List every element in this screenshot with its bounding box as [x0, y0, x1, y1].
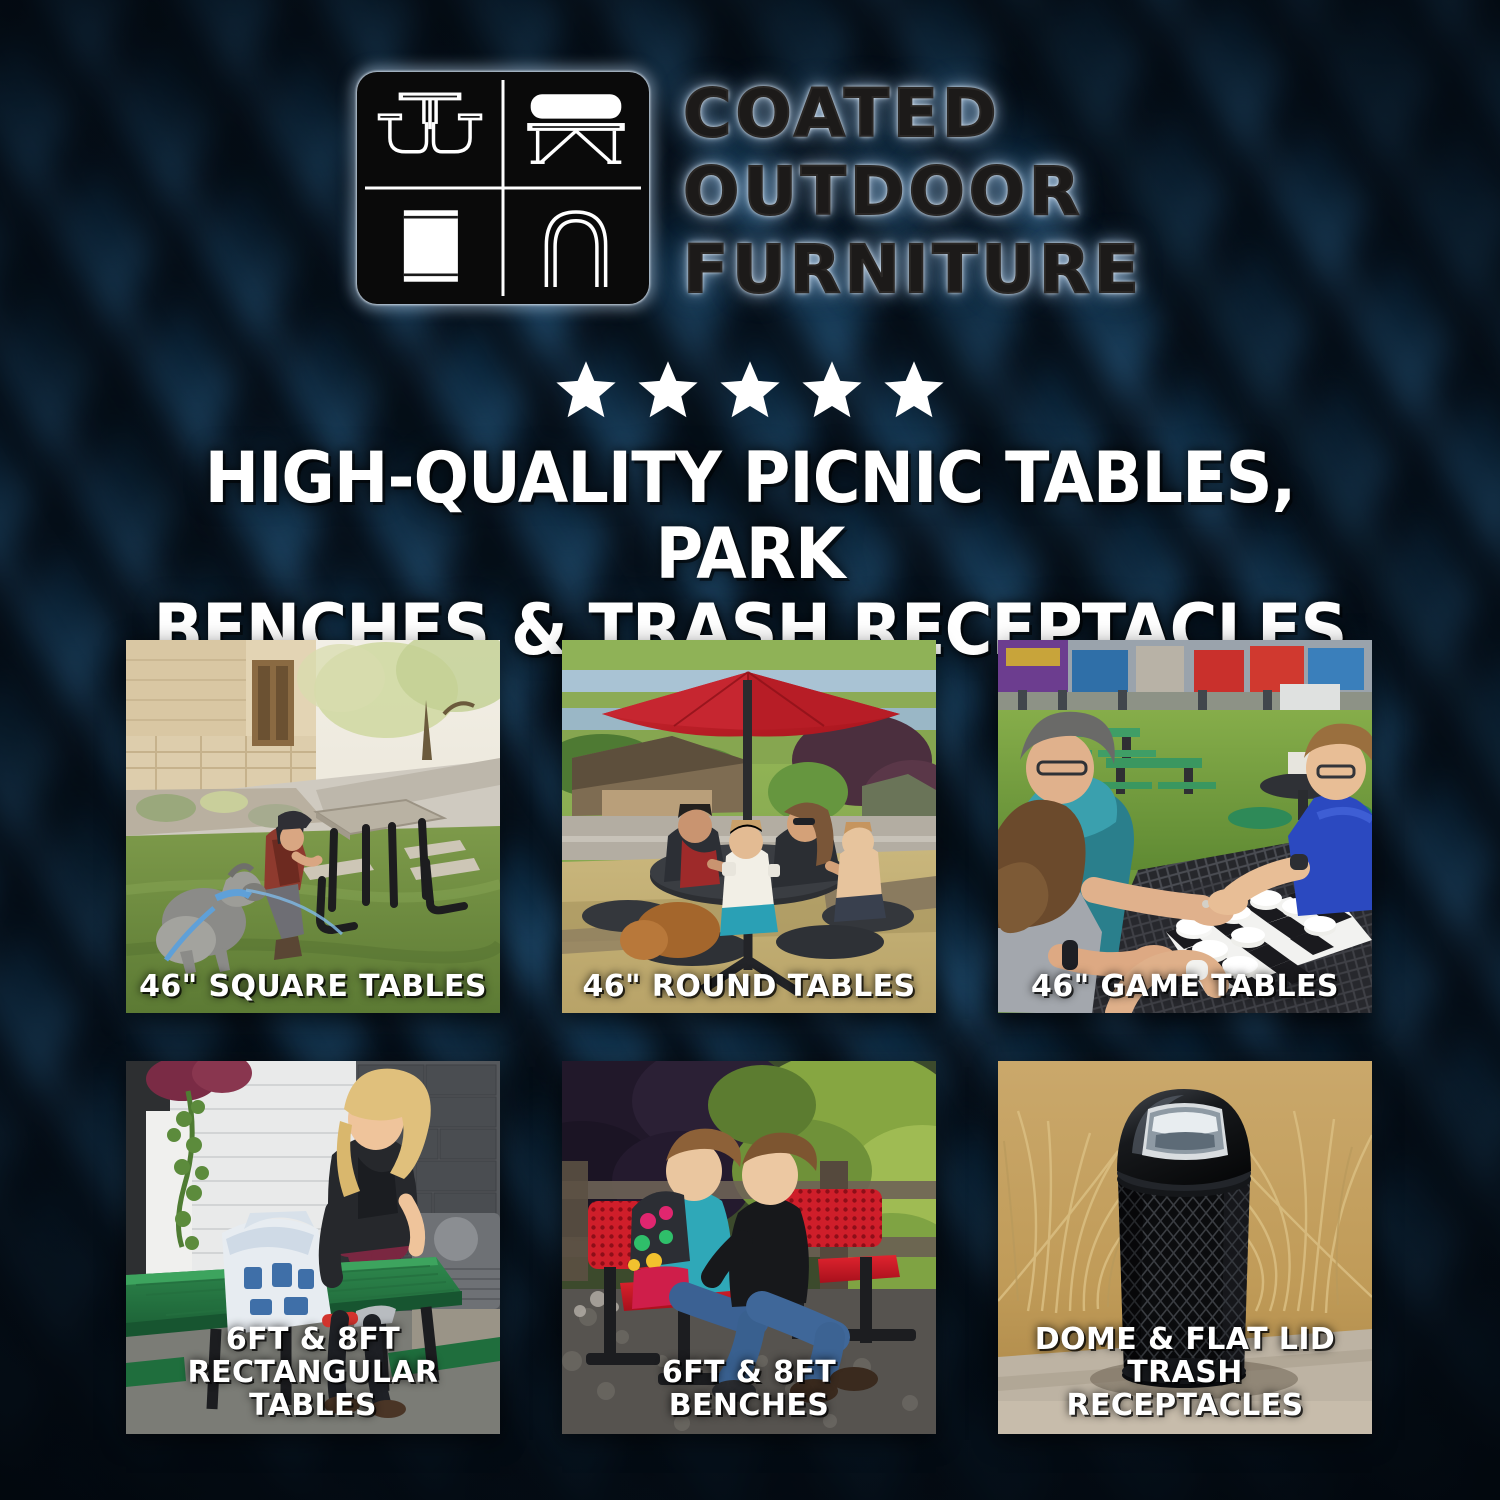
promo-banner: COATED OUTDOOR FURNITURE HIGH-QUALITY PI… [0, 0, 1500, 1500]
tile-caption-line: 6FT & 8FT [134, 1323, 492, 1356]
star-icon [799, 358, 865, 422]
product-tile-benches[interactable]: 6FT & 8FT BENCHES [562, 1061, 936, 1434]
tile-caption-line: 46" ROUND TABLES [582, 969, 915, 1004]
photo-round-tables [562, 640, 936, 1013]
star-icon [553, 358, 619, 422]
picnic-table-icon [357, 72, 503, 188]
tile-caption: 6FT & 8FT BENCHES [562, 1356, 936, 1422]
product-category-grid: 46" SQUARE TABLES [126, 640, 1374, 1434]
trash-receptacle-icon [357, 188, 503, 304]
tile-caption-line: TRASH RECEPTACLES [1006, 1356, 1364, 1422]
tile-caption: 6FT & 8FT RECTANGULAR TABLES [126, 1323, 500, 1422]
product-tile-square-tables[interactable]: 46" SQUARE TABLES [126, 640, 500, 1013]
star-icon [881, 358, 947, 422]
tile-caption: 46" GAME TABLES [998, 970, 1372, 1003]
brand-word-furniture: FURNITURE [683, 232, 1143, 308]
tile-caption: 46" ROUND TABLES [562, 970, 936, 1003]
product-tile-trash-receptacles[interactable]: DOME & FLAT LID TRASH RECEPTACLES [998, 1061, 1372, 1434]
page-title: HIGH-QUALITY PICNIC TABLES, PARK BENCHES… [100, 440, 1400, 668]
tile-caption-line: BENCHES [570, 1389, 928, 1422]
star-rating [0, 358, 1500, 422]
photo-square-tables [126, 640, 500, 1013]
product-tile-round-tables[interactable]: 46" ROUND TABLES [562, 640, 936, 1013]
tile-caption-line: 46" GAME TABLES [1031, 969, 1339, 1004]
headline-line-1: HIGH-QUALITY PICNIC TABLES, PARK [146, 440, 1355, 592]
product-tile-game-tables[interactable]: 46" GAME TABLES [998, 640, 1372, 1013]
star-icon [635, 358, 701, 422]
park-bench-icon [503, 72, 649, 188]
tile-caption: 46" SQUARE TABLES [126, 970, 500, 1003]
tile-caption-line: 46" SQUARE TABLES [139, 969, 487, 1004]
tile-caption-line: DOME & FLAT LID [1006, 1323, 1364, 1356]
tile-caption: DOME & FLAT LID TRASH RECEPTACLES [998, 1323, 1372, 1422]
brand-word-coated: COATED [683, 76, 1143, 152]
brand-wordmark: COATED OUTDOOR FURNITURE [683, 72, 1143, 308]
brand-logo-mark [357, 72, 649, 304]
photo-game-tables [998, 640, 1372, 1013]
brand-word-outdoor: OUTDOOR [683, 154, 1143, 230]
tile-caption-line: 6FT & 8FT [570, 1356, 928, 1389]
brand-lockup: COATED OUTDOOR FURNITURE [0, 72, 1500, 308]
tile-caption-line: RECTANGULAR TABLES [134, 1356, 492, 1422]
bike-rack-icon [503, 188, 649, 304]
product-tile-rectangular-tables[interactable]: 6FT & 8FT RECTANGULAR TABLES [126, 1061, 500, 1434]
star-icon [717, 358, 783, 422]
